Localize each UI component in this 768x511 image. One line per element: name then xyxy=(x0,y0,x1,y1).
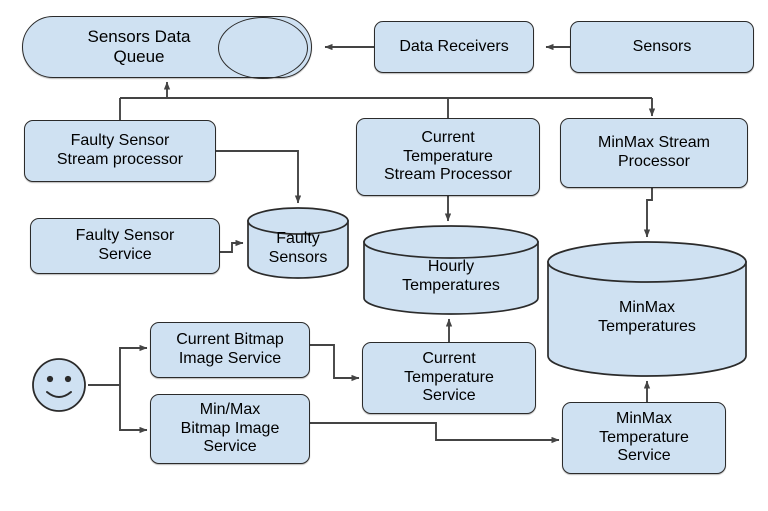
node-sensors-data-queue[interactable]: Sensors Data Queue xyxy=(22,16,312,78)
node-faulty-sensor-service[interactable]: Faulty Sensor Service xyxy=(30,218,220,274)
node-minmax-temperatures-store[interactable]: MinMax Temperatures xyxy=(546,240,748,378)
node-minmax-bitmap-image-service-label: Min/Max Bitmap Image Service xyxy=(177,401,284,458)
edge-faulty-sensor-service-to-faulty-sensors xyxy=(220,243,243,252)
node-current-temperature-service-label: Current Temperature Service xyxy=(400,350,498,407)
node-current-bitmap-image-service-label: Current Bitmap Image Service xyxy=(172,331,288,369)
node-sensors[interactable]: Sensors xyxy=(570,21,754,73)
node-current-temperature-stream-processor-label: Current Temperature Stream Processor xyxy=(380,129,516,186)
node-minmax-bitmap-image-service[interactable]: Min/Max Bitmap Image Service xyxy=(150,394,310,464)
edge-user-to-current-bitmap-service xyxy=(120,348,147,385)
edge-user-to-minmax-bitmap-service xyxy=(120,385,147,430)
node-faulty-sensor-stream-processor-label: Faulty Sensor Stream processor xyxy=(53,132,187,170)
node-minmax-temperature-service-label: MinMax Temperature Service xyxy=(595,410,693,467)
node-data-receivers-label: Data Receivers xyxy=(395,38,512,57)
node-minmax-temperature-service[interactable]: MinMax Temperature Service xyxy=(562,402,726,474)
node-hourly-temperatures-store[interactable]: Hourly Temperatures xyxy=(362,224,540,316)
architecture-diagram-canvas: Sensors Data Queue Data Receivers Sensor… xyxy=(0,0,768,511)
node-faulty-sensors-store[interactable]: Faulty Sensors xyxy=(246,206,350,280)
node-sensors-label: Sensors xyxy=(629,38,696,57)
node-current-temperature-service[interactable]: Current Temperature Service xyxy=(362,342,536,414)
smiley-face-icon xyxy=(30,357,88,413)
node-current-bitmap-image-service[interactable]: Current Bitmap Image Service xyxy=(150,322,310,378)
node-minmax-stream-processor-label: MinMax Stream Processor xyxy=(594,134,714,172)
node-user-actor[interactable] xyxy=(30,357,88,413)
node-data-receivers[interactable]: Data Receivers xyxy=(374,21,534,73)
node-hourly-temperatures-store-label: Hourly Temperatures xyxy=(398,258,504,296)
node-sensors-data-queue-label: Sensors Data Queue xyxy=(84,27,195,67)
edge-minmax-bitmap-to-minmax-temp-service xyxy=(310,423,559,440)
node-minmax-stream-processor[interactable]: MinMax Stream Processor xyxy=(560,118,748,188)
node-current-temperature-stream-processor[interactable]: Current Temperature Stream Processor xyxy=(356,118,540,196)
node-faulty-sensor-stream-processor[interactable]: Faulty Sensor Stream processor xyxy=(24,120,216,182)
edge-current-bitmap-to-current-temp-service xyxy=(310,345,359,378)
node-faulty-sensor-service-label: Faulty Sensor Service xyxy=(72,227,179,265)
edge-minmax-stream-processor-to-minmax-store xyxy=(647,188,652,237)
edge-faulty-stream-processor-to-faulty-sensors xyxy=(216,151,298,203)
node-minmax-temperatures-store-label: MinMax Temperatures xyxy=(594,299,700,337)
node-faulty-sensors-store-label: Faulty Sensors xyxy=(265,230,332,268)
